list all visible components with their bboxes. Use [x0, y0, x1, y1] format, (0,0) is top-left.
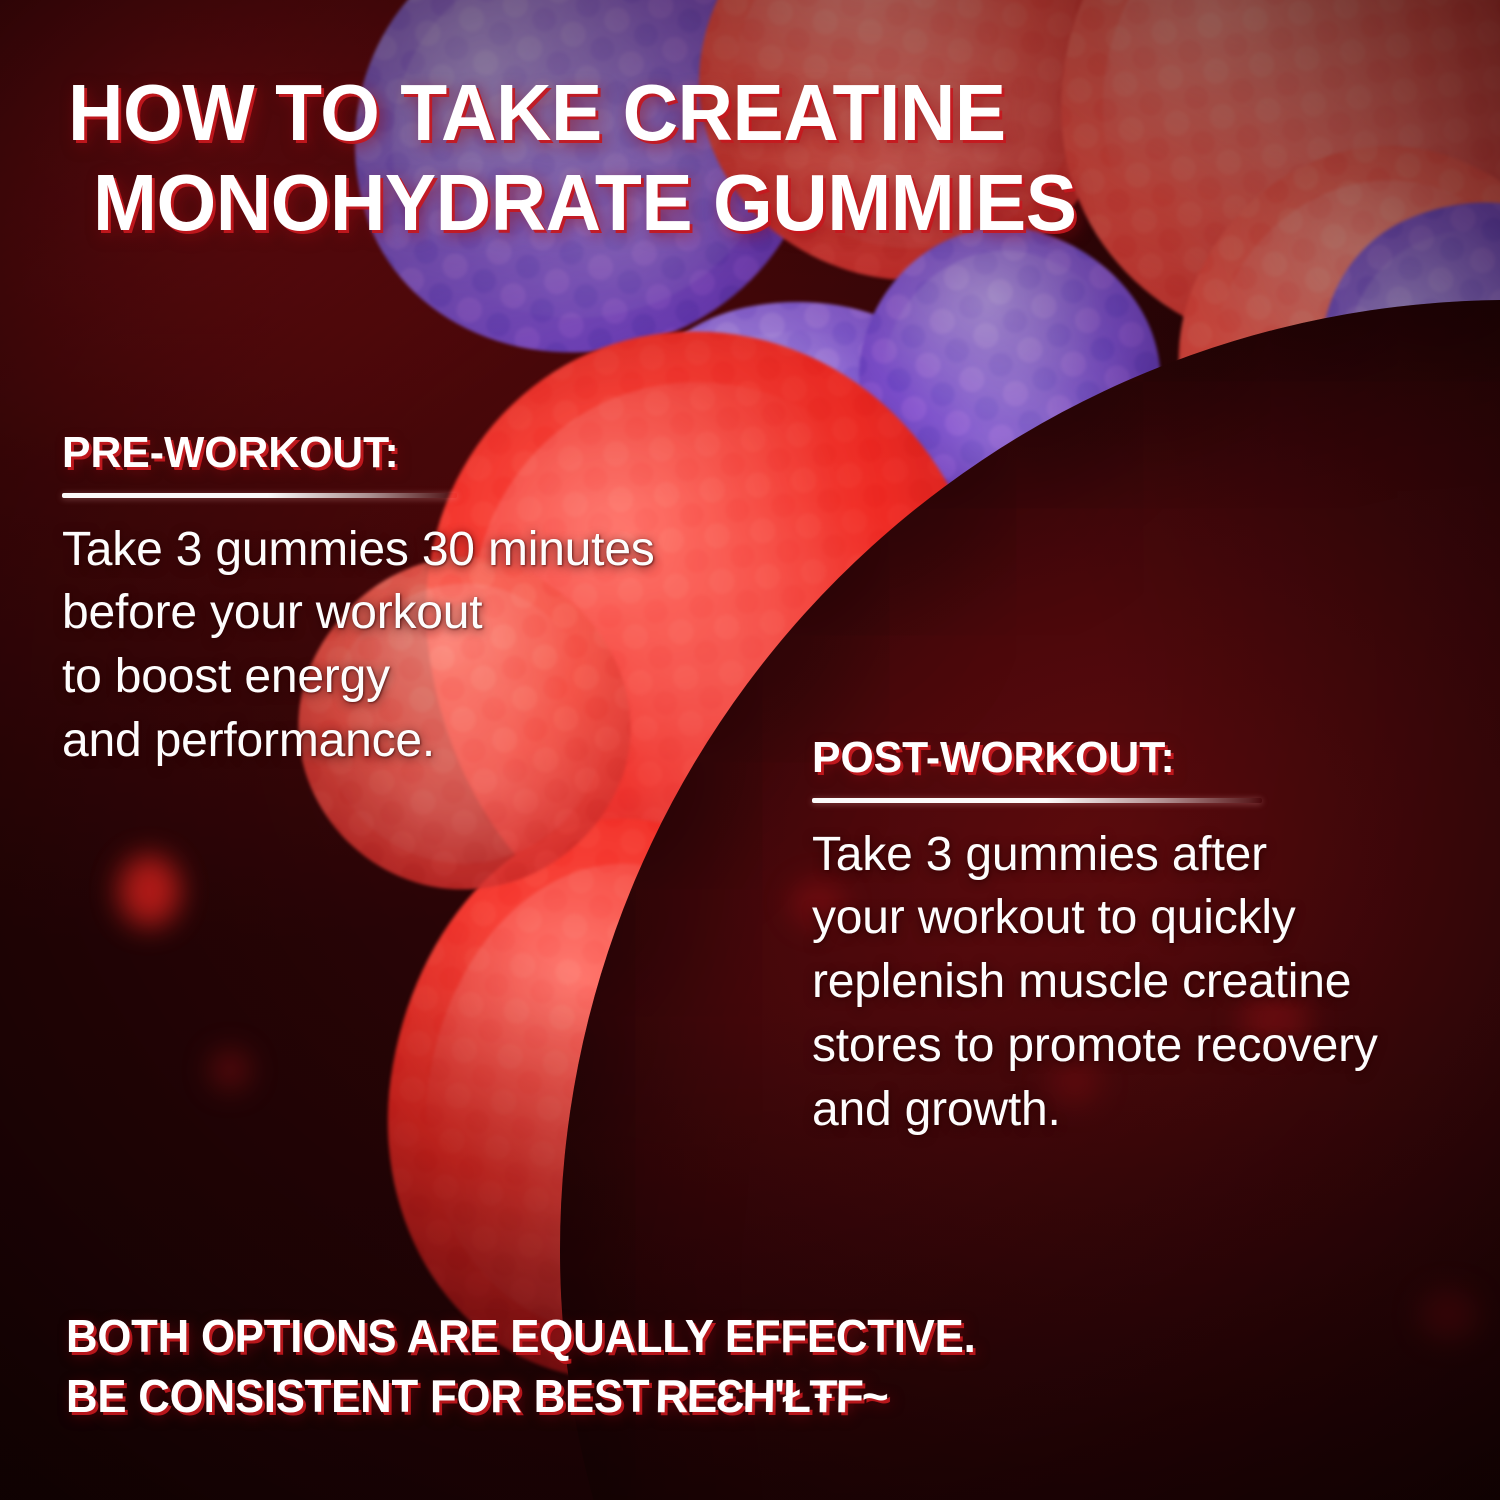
post-workout-body-line-5: and growth. [812, 1078, 1472, 1142]
pre-workout-body-line-3: to boost energy [62, 645, 762, 709]
pre-workout-divider [62, 493, 457, 498]
footer-line-1: BOTH OPTIONS ARE EQUALLY EFFECTIVE. [66, 1307, 1358, 1367]
pre-workout-body-line-2: before your workout [62, 581, 762, 645]
pre-workout-block: PRE-WORKOUT: Take 3 gummies 30 minutes b… [62, 430, 762, 773]
post-workout-title: POST-WORKOUT: [812, 735, 1452, 782]
page-title: HOW TO TAKE CREATINE MONOHYDRATE GUMMIES [68, 68, 1335, 249]
headline-line-1: HOW TO TAKE CREATINE [68, 68, 1335, 158]
pre-workout-body-line-1: Take 3 gummies 30 minutes [62, 518, 762, 582]
footer-glitched-word: REƐH'ŁŦF~ [654, 1367, 887, 1427]
post-workout-body-line-2: your workout to quickly [812, 886, 1472, 950]
headline-line-2: MONOHYDRATE GUMMIES [68, 158, 1335, 248]
post-workout-divider [812, 798, 1262, 803]
pre-workout-body: Take 3 gummies 30 minutes before your wo… [62, 518, 762, 773]
pre-workout-title: PRE-WORKOUT: [62, 430, 741, 477]
footer-line-2: BE CONSISTENT FOR BEST REƐH'ŁŦF~ [66, 1367, 1358, 1427]
footer-line-2-prefix: BE CONSISTENT FOR BEST [66, 1370, 661, 1422]
post-workout-body: Take 3 gummies after your workout to qui… [812, 823, 1472, 1142]
pre-workout-body-line-4: and performance. [62, 709, 762, 773]
text-content-layer: HOW TO TAKE CREATINE MONOHYDRATE GUMMIES… [0, 0, 1500, 1500]
post-workout-body-line-4: stores to promote recovery [812, 1014, 1472, 1078]
footer-tagline: BOTH OPTIONS ARE EQUALLY EFFECTIVE. BE C… [66, 1307, 1358, 1427]
infographic-poster: HOW TO TAKE CREATINE MONOHYDRATE GUMMIES… [0, 0, 1500, 1500]
post-workout-body-line-3: replenish muscle creatine [812, 950, 1472, 1014]
post-workout-block: POST-WORKOUT: Take 3 gummies after your … [812, 735, 1472, 1142]
post-workout-body-line-1: Take 3 gummies after [812, 823, 1472, 887]
